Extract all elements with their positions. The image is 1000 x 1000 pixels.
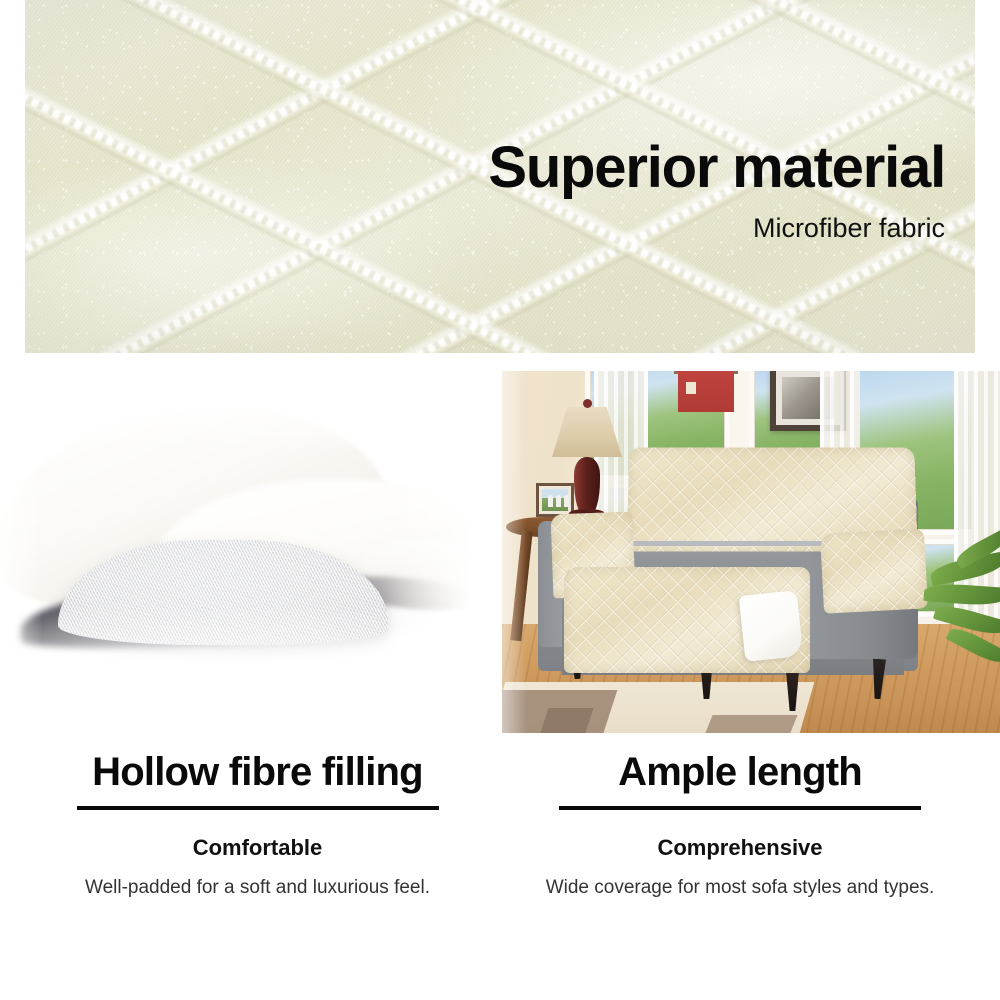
feature-hollow-fibre-filling: Hollow fibre filling Comfortable Well-pa… (40, 750, 475, 902)
banner-text-block: Superior material Microfiber fabric (488, 138, 945, 244)
feature-title: Hollow fibre filling (40, 750, 475, 794)
banner-subtitle: Microfiber fabric (488, 213, 945, 244)
feature-subtitle: Comprehensive (520, 835, 960, 861)
superior-material-banner: Superior material Microfiber fabric (25, 0, 975, 353)
feature-divider-rule (77, 806, 439, 810)
photo-edge-fade (502, 371, 1000, 733)
sofa-cover-room-photo (502, 371, 1000, 733)
feature-columns: Hollow fibre filling Comfortable Well-pa… (0, 750, 1000, 1000)
feature-ample-length: Ample length Comprehensive Wide coverage… (520, 750, 960, 902)
feature-description: Wide coverage for most sofa styles and t… (520, 875, 960, 902)
feature-title: Ample length (520, 750, 960, 794)
banner-title: Superior material (488, 138, 945, 199)
feature-description: Well-padded for a soft and luxurious fee… (40, 875, 475, 902)
feature-subtitle: Comfortable (40, 835, 475, 861)
photo-white-fade (0, 400, 470, 733)
feature-divider-rule (559, 806, 921, 810)
hollow-fibre-filling-photo (0, 400, 470, 733)
